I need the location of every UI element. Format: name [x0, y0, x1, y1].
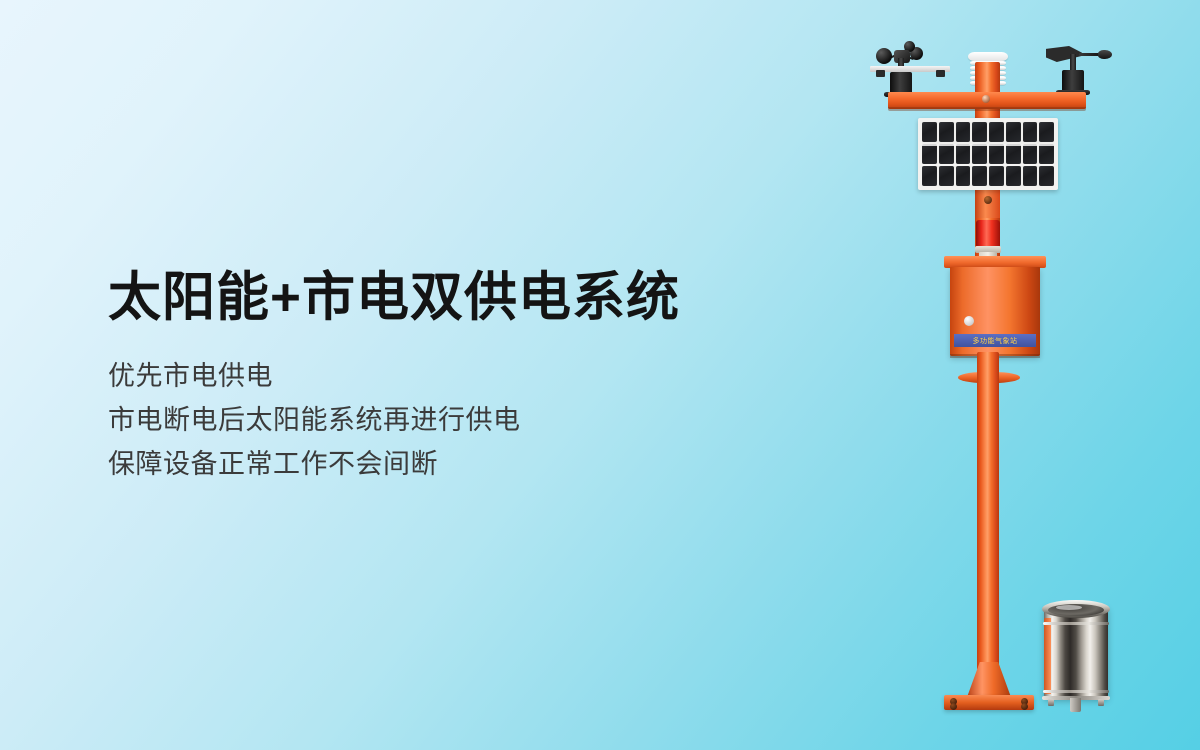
solar-cell	[956, 166, 971, 186]
mast-lower-section	[977, 352, 999, 670]
solar-cell	[1006, 122, 1021, 142]
solar-busbar	[922, 164, 1054, 166]
solar-cell	[922, 144, 937, 164]
solar-cell	[1023, 144, 1038, 164]
solar-cell	[1006, 166, 1021, 186]
rain-gauge-foot	[1048, 699, 1054, 706]
rain-gauge-band	[1043, 622, 1109, 625]
rain-gauge-highlight	[1056, 605, 1082, 610]
solar-cell	[972, 144, 987, 164]
beacon-lens	[976, 220, 1000, 248]
crossarm-shadow	[888, 107, 1086, 111]
feature-bullet-1: 优先市电供电	[108, 355, 868, 399]
solar-cell	[939, 144, 954, 164]
solar-cell	[989, 144, 1004, 164]
solar-cell-grid	[922, 122, 1054, 186]
vane-fin	[1046, 46, 1082, 62]
rain-gauge	[1040, 592, 1112, 714]
crossarm-bolt	[982, 95, 990, 103]
weather-station-illustration: 多功能气象站	[840, 0, 1200, 750]
enclosure-latch	[964, 316, 974, 326]
solar-cell	[1039, 144, 1054, 164]
solar-cell	[1006, 144, 1021, 164]
rain-gauge-band	[1043, 690, 1109, 693]
solar-cell	[1039, 122, 1054, 142]
enclosure-label: 多功能气象站	[954, 334, 1036, 347]
solar-cell	[956, 144, 971, 164]
controller-enclosure: 多功能气象站	[950, 256, 1040, 356]
rain-gauge-foot	[1098, 699, 1104, 706]
page-title: 太阳能+市电双供电系统	[108, 268, 868, 327]
solar-cell	[989, 166, 1004, 186]
solar-cell	[956, 122, 971, 142]
solar-panel	[918, 118, 1058, 190]
solar-cell	[972, 166, 987, 186]
base-bolt-hole	[1021, 703, 1028, 710]
feature-bullet-list: 优先市电供电 市电断电后太阳能系统再进行供电 保障设备正常工作不会间断	[108, 355, 868, 486]
solar-cell	[989, 122, 1004, 142]
wind-vane-icon	[1040, 38, 1112, 96]
solar-panel-mount	[876, 70, 885, 77]
promo-banner: 太阳能+市电双供电系统 优先市电供电 市电断电后太阳能系统再进行供电 保障设备正…	[0, 0, 1200, 750]
solar-cell	[1023, 122, 1038, 142]
marketing-text-block: 太阳能+市电双供电系统 优先市电供电 市电断电后太阳能系统再进行供电 保障设备正…	[108, 268, 868, 487]
base-bolt-hole	[950, 703, 957, 710]
vane-base	[1062, 70, 1084, 92]
feature-bullet-3: 保障设备正常工作不会间断	[108, 443, 868, 487]
shield-cap	[968, 52, 1008, 61]
mast-behind-panel	[975, 190, 1000, 218]
solar-cell	[1023, 166, 1038, 186]
rain-gauge-body	[1044, 606, 1108, 698]
vane-nose-weight	[1098, 50, 1112, 59]
rain-gauge-drain	[1070, 698, 1081, 712]
solar-cell	[939, 166, 954, 186]
solar-cell	[922, 122, 937, 142]
feature-bullet-2: 市电断电后太阳能系统再进行供电	[108, 399, 868, 443]
solar-busbar	[922, 144, 1054, 146]
mast-bolt	[984, 196, 992, 204]
rain-gauge-reflection	[1044, 618, 1051, 694]
vane-body	[1046, 46, 1110, 60]
solar-cell	[922, 166, 937, 186]
warning-beacon-icon	[976, 220, 1000, 260]
solar-cell	[972, 122, 987, 142]
mounting-base-plate	[944, 662, 1034, 712]
anemometer-cup	[876, 48, 892, 64]
anemometer-base	[890, 72, 912, 94]
solar-cell	[1039, 166, 1054, 186]
solar-cell	[939, 122, 954, 142]
solar-panel-mount	[936, 70, 945, 77]
